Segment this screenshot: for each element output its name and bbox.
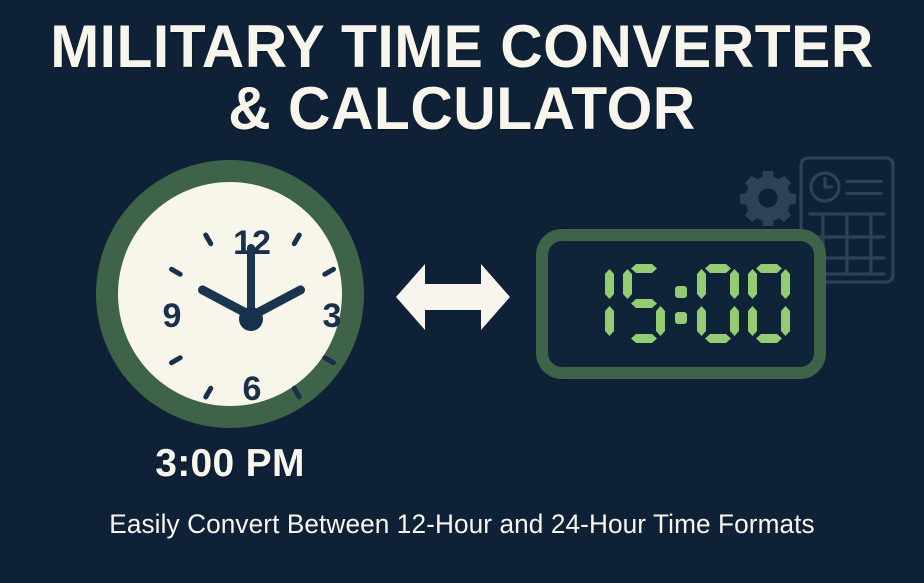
digit-minute-ones xyxy=(747,264,791,344)
digital-colon xyxy=(673,264,689,344)
clock-center-hub xyxy=(239,307,263,331)
subtitle: Easily Convert Between 12-Hour and 24-Ho… xyxy=(14,508,910,540)
military-time-converter-banner: MILITARY TIME CONVERTER & CALCULATOR xyxy=(0,0,924,583)
page-title: MILITARY TIME CONVERTER & CALCULATOR xyxy=(0,16,924,140)
clock-tick-10 xyxy=(168,266,183,278)
clock-numeral-6: 6 xyxy=(229,372,275,406)
gear-icon xyxy=(740,170,796,226)
analog-clock: 12 3 6 9 xyxy=(96,160,364,428)
digit-hour-tens xyxy=(571,264,615,344)
minute-hand xyxy=(247,244,255,316)
digit-minute-tens xyxy=(696,264,740,344)
clock-numeral-9: 9 xyxy=(149,299,195,333)
page-title-line-2: & CALCULATOR xyxy=(9,78,915,140)
seven-segment-display xyxy=(571,264,791,344)
page-title-line-1: MILITARY TIME CONVERTER xyxy=(9,16,915,78)
digital-clock xyxy=(536,229,826,379)
clock-face: 12 3 6 9 xyxy=(118,182,342,406)
twelve-hour-time-label: 3:00 PM xyxy=(96,443,364,485)
digit-hour-ones xyxy=(622,264,666,344)
clock-tick-2 xyxy=(321,266,336,278)
clock-tick-7 xyxy=(202,385,214,400)
clock-tick-1 xyxy=(291,232,303,247)
clock-tick-11 xyxy=(202,232,214,247)
clock-numeral-3: 3 xyxy=(309,299,355,333)
double-arrow-icon xyxy=(392,260,514,334)
clock-tick-8 xyxy=(168,354,183,366)
